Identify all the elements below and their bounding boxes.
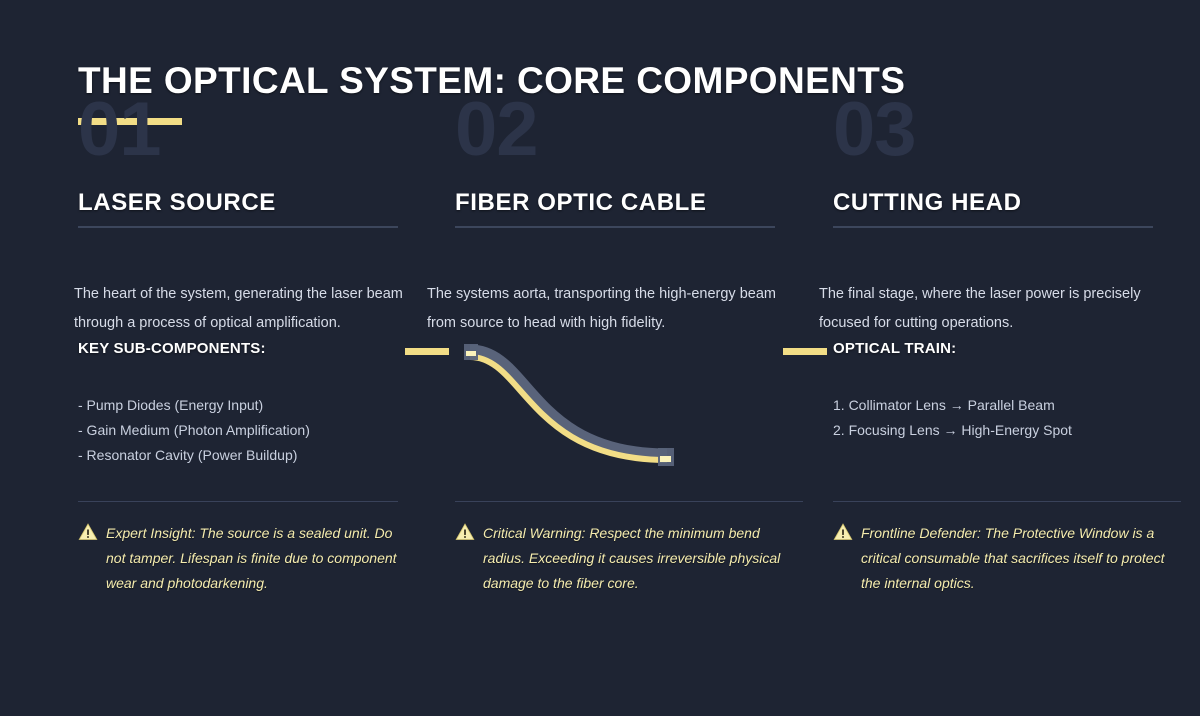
sub-block-key-sub-components: KEY SUB-COMPONENTS: - Pump Diodes (Energ… [78,340,408,468]
note-text: Expert Insight: The source is a sealed u… [106,521,408,596]
page-title: THE OPTICAL SYSTEM: CORE COMPONENTS [78,60,905,102]
column-description-laser-source: The heart of the system, generating the … [74,280,426,338]
note-divider [833,501,1181,502]
accent-dash-icon [783,348,827,355]
component-column-cutting-head: 03 CUTTING HEAD The final stage, where t… [805,0,1151,716]
list-item: - Pump Diodes (Energy Input) [78,393,408,418]
sub-heading-optical-train: OPTICAL TRAIN: [833,340,956,357]
list-item: 2. Focusing Lens → High-Energy Spot [833,418,1163,443]
step-number-03: 03 [833,92,916,168]
sub-block-optical-train: OPTICAL TRAIN: 1. Collimator Lens → Para… [833,340,1163,443]
note-text: Frontline Defender: The Protective Windo… [861,521,1183,596]
step-number-01: 01 [78,92,161,168]
column-description-cutting-head: The final stage, where the laser power i… [819,280,1175,338]
fiber-optic-cable-diagram [452,336,752,476]
note-divider [455,501,803,502]
heading-divider [455,226,775,228]
note-critical-warning: Critical Warning: Respect the minimum be… [455,521,805,596]
note-frontline-defender: Frontline Defender: The Protective Windo… [833,521,1183,596]
note-divider [78,501,398,502]
warning-triangle-icon [833,522,853,542]
column-description-fiber-optic-cable: The systems aorta, transporting the high… [427,280,803,338]
sub-heading-row: KEY SUB-COMPONENTS: [78,340,408,362]
list-item: 1. Collimator Lens → Parallel Beam [833,393,1163,418]
component-column-fiber-optic-cable: 02 FIBER OPTIC CABLE The systems aorta, … [427,0,773,716]
sub-heading-key-sub-components: KEY SUB-COMPONENTS: [78,340,266,357]
column-heading-cutting-head: CUTTING HEAD [833,189,1022,217]
step-number-02: 02 [455,92,538,168]
column-heading-laser-source: LASER SOURCE [78,189,276,217]
sub-list-key-sub-components: - Pump Diodes (Energy Input) - Gain Medi… [78,393,408,468]
heading-divider [78,226,398,228]
slide-canvas: THE OPTICAL SYSTEM: CORE COMPONENTS 01 L… [0,0,1200,716]
warning-triangle-icon [78,522,98,542]
column-heading-fiber-optic-cable: FIBER OPTIC CABLE [455,189,707,217]
warning-triangle-icon [455,522,475,542]
heading-divider [833,226,1153,228]
sub-heading-row: OPTICAL TRAIN: [833,340,1163,362]
list-item: - Resonator Cavity (Power Buildup) [78,443,408,468]
component-column-laser-source: 01 LASER SOURCE The heart of the system,… [50,0,396,716]
list-item: - Gain Medium (Photon Amplification) [78,418,408,443]
note-text: Critical Warning: Respect the minimum be… [483,521,805,596]
note-expert-insight: Expert Insight: The source is a sealed u… [78,521,408,596]
accent-dash-icon [405,348,449,355]
columns-container: 01 LASER SOURCE The heart of the system,… [0,0,1200,716]
sub-list-optical-train: 1. Collimator Lens → Parallel Beam 2. Fo… [833,393,1163,443]
